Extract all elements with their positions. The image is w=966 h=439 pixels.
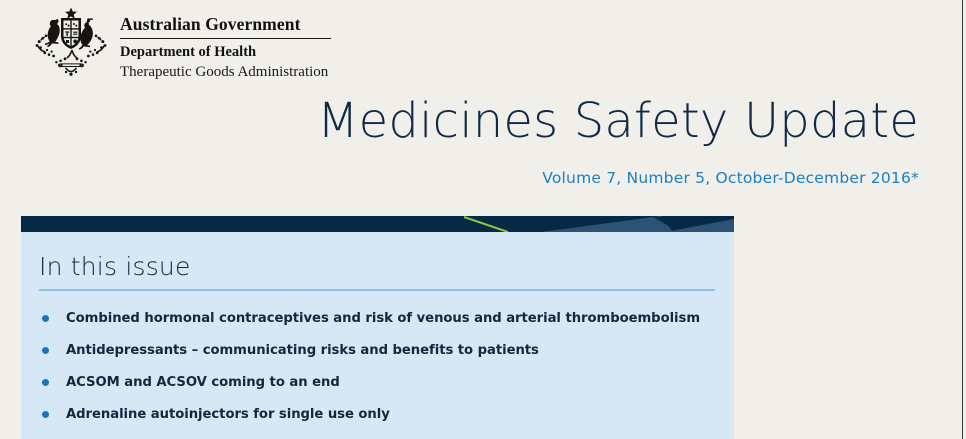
list-item[interactable]: Combined hormonal contraceptives and ris… [39,309,719,328]
bullet-icon [42,411,49,418]
decorative-banner [21,216,734,232]
title-block: Medicines Safety Update Volume 7, Number… [219,92,919,188]
list-item[interactable]: Antidepressants – communicating risks an… [39,341,719,360]
document-page: Australian Government Department of Heal… [0,0,966,439]
issue-contents-list: Combined hormonal contraceptives and ris… [39,309,719,437]
list-item-label: Combined hormonal contraceptives and ris… [66,311,700,326]
list-item-label: Antidepressants – communicating risks an… [66,343,539,358]
bullet-icon [42,315,49,322]
australian-coat-of-arms-icon [25,6,117,78]
heading-underline [39,289,715,291]
masthead-divider [120,38,331,39]
issue-volume-line: Volume 7, Number 5, October-December 201… [219,168,919,188]
masthead: Australian Government Department of Heal… [25,6,385,80]
list-item[interactable]: ACSOM and ACSOV coming to an end [39,373,719,392]
page-title: Medicines Safety Update [219,92,919,150]
department-of-health-label: Department of Health [120,43,385,62]
tga-label: Therapeutic Goods Administration [120,62,385,82]
in-this-issue-panel: In this issue Combined hormonal contrace… [21,216,734,439]
australian-government-label: Australian Government [120,14,385,34]
masthead-text: Australian Government Department of Heal… [120,14,385,82]
in-this-issue-heading: In this issue [39,252,191,282]
list-item-label: ACSOM and ACSOV coming to an end [66,375,340,390]
list-item-label: Adrenaline autoinjectors for single use … [66,407,390,422]
bullet-icon [42,347,49,354]
list-item[interactable]: Adrenaline autoinjectors for single use … [39,405,719,424]
page-right-edge-rule [962,0,963,439]
bullet-icon [42,379,49,386]
